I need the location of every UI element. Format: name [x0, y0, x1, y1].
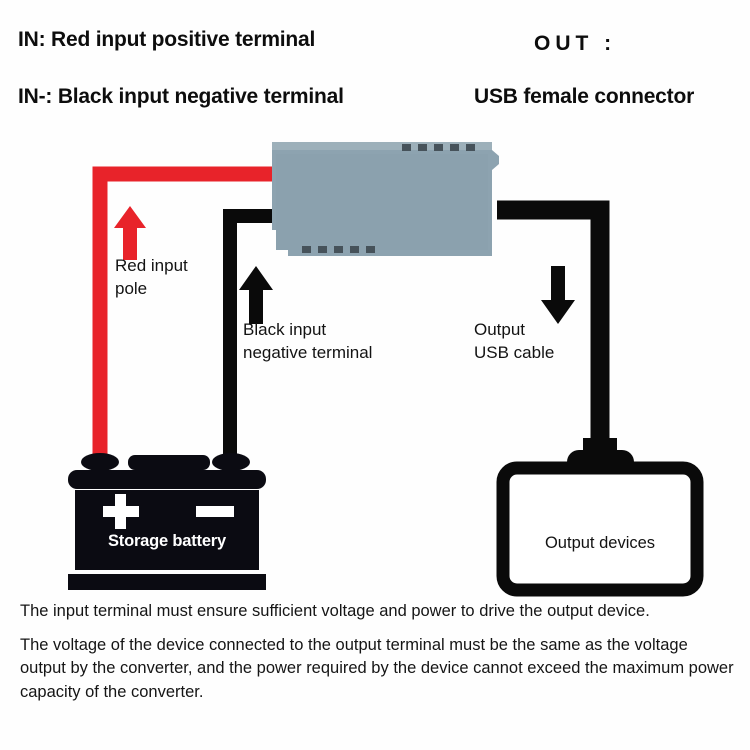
header-out-title: OUT :	[534, 32, 616, 56]
footer-paragraph-1: The input terminal must ensure sufficien…	[20, 600, 736, 624]
footer-paragraph-2: The voltage of the device connected to t…	[20, 634, 736, 705]
wiring-diagram: Red input pole Black input negative term…	[0, 128, 750, 598]
storage-battery-label: Storage battery	[75, 532, 259, 551]
output-devices-label: Output devices	[505, 534, 695, 553]
header-in-positive-label: IN: Red input positive terminal	[18, 28, 315, 52]
black-input-negative-label: Black input negative terminal	[243, 318, 372, 364]
footer-notes: The input terminal must ensure sufficien…	[20, 600, 736, 714]
output-cable-line2: USB cable	[474, 341, 554, 364]
black-input-line1: Black input	[243, 318, 372, 341]
header-usb-connector-label: USB female connector	[474, 85, 694, 109]
red-input-pole-line1: Red input	[115, 254, 188, 277]
black-up-arrow-icon	[239, 266, 273, 324]
red-input-pole-line2: pole	[115, 277, 188, 300]
storage-battery-icon	[68, 453, 266, 590]
converter-module-icon	[272, 142, 499, 256]
red-up-arrow-icon	[114, 206, 146, 260]
black-input-line2: negative terminal	[243, 341, 372, 364]
battery-minus-symbol	[196, 506, 234, 517]
black-down-arrow-icon	[541, 266, 575, 324]
header-in-negative-label: IN-: Black input negative terminal	[18, 85, 344, 109]
diagram-page: IN: Red input positive terminal IN-: Bla…	[0, 0, 750, 750]
red-input-pole-label: Red input pole	[115, 254, 188, 300]
output-usb-cable-label: Output USB cable	[474, 318, 554, 364]
output-cable-line1: Output	[474, 318, 554, 341]
diagram-canvas	[0, 128, 750, 598]
output-device-icon	[503, 438, 697, 590]
